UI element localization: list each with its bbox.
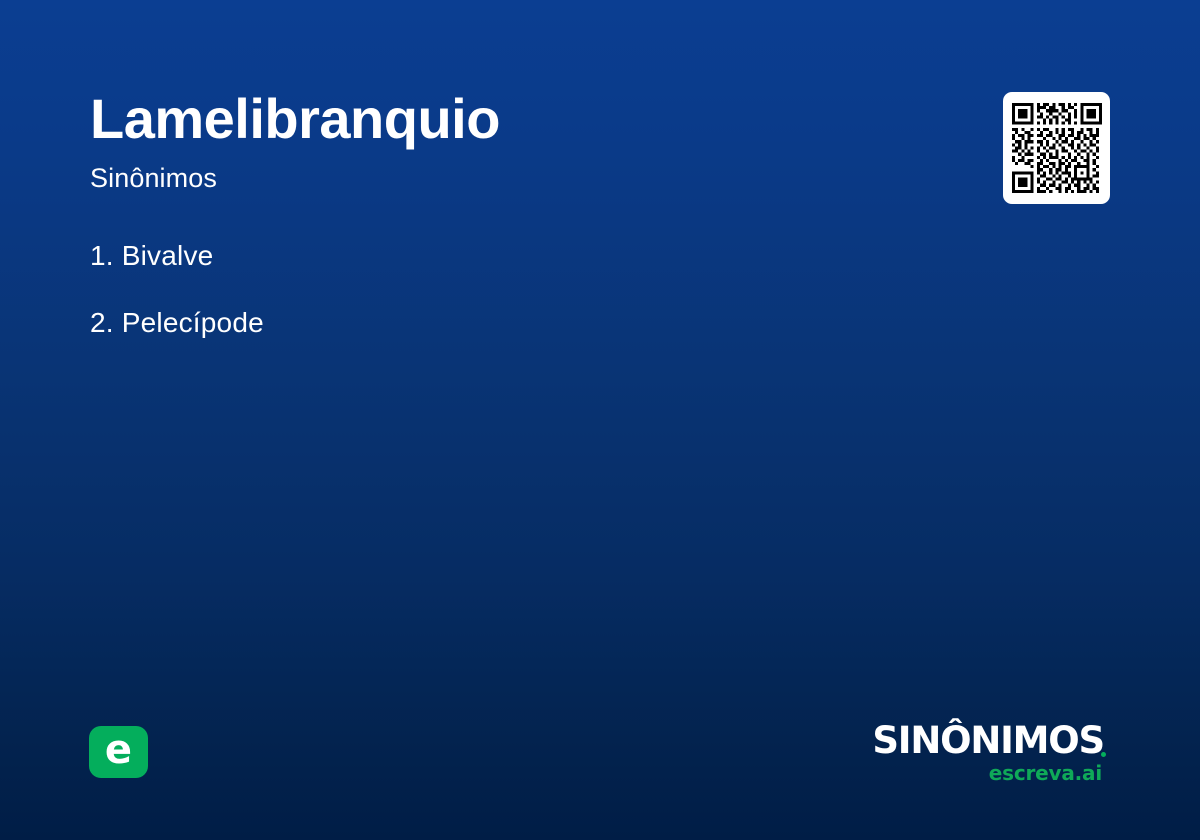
page-header: Lamelibranquio Sinônimos bbox=[90, 88, 970, 194]
wordmark-dot-icon bbox=[1101, 752, 1106, 757]
synonym-list: 1. Bivalve 2. Pelecípode bbox=[90, 238, 950, 372]
sinonimos-wordmark[interactable]: SINÔNIMOS escreva.ai bbox=[872, 722, 1104, 783]
brand-badge-letter: e bbox=[105, 730, 132, 770]
qr-code-card[interactable] bbox=[1003, 92, 1110, 204]
list-item-term: Pelecípode bbox=[122, 307, 264, 338]
page-title: Lamelibranquio bbox=[90, 88, 970, 150]
list-item-term: Bivalve bbox=[122, 240, 214, 271]
wordmark-title: SINÔNIMOS bbox=[872, 722, 1104, 759]
qr-code-icon bbox=[1012, 103, 1102, 193]
list-item-index: 1. bbox=[90, 240, 114, 271]
page-subtitle: Sinônimos bbox=[90, 162, 970, 194]
wordmark-subtitle: escreva.ai bbox=[872, 763, 1104, 783]
list-item-index: 2. bbox=[90, 307, 114, 338]
list-item: 2. Pelecípode bbox=[90, 305, 950, 340]
list-item: 1. Bivalve bbox=[90, 238, 950, 273]
escreva-e-logo-icon[interactable]: e bbox=[89, 726, 148, 778]
synonym-card-page: { "page": { "title": "Lamelibranquio", "… bbox=[0, 0, 1200, 840]
